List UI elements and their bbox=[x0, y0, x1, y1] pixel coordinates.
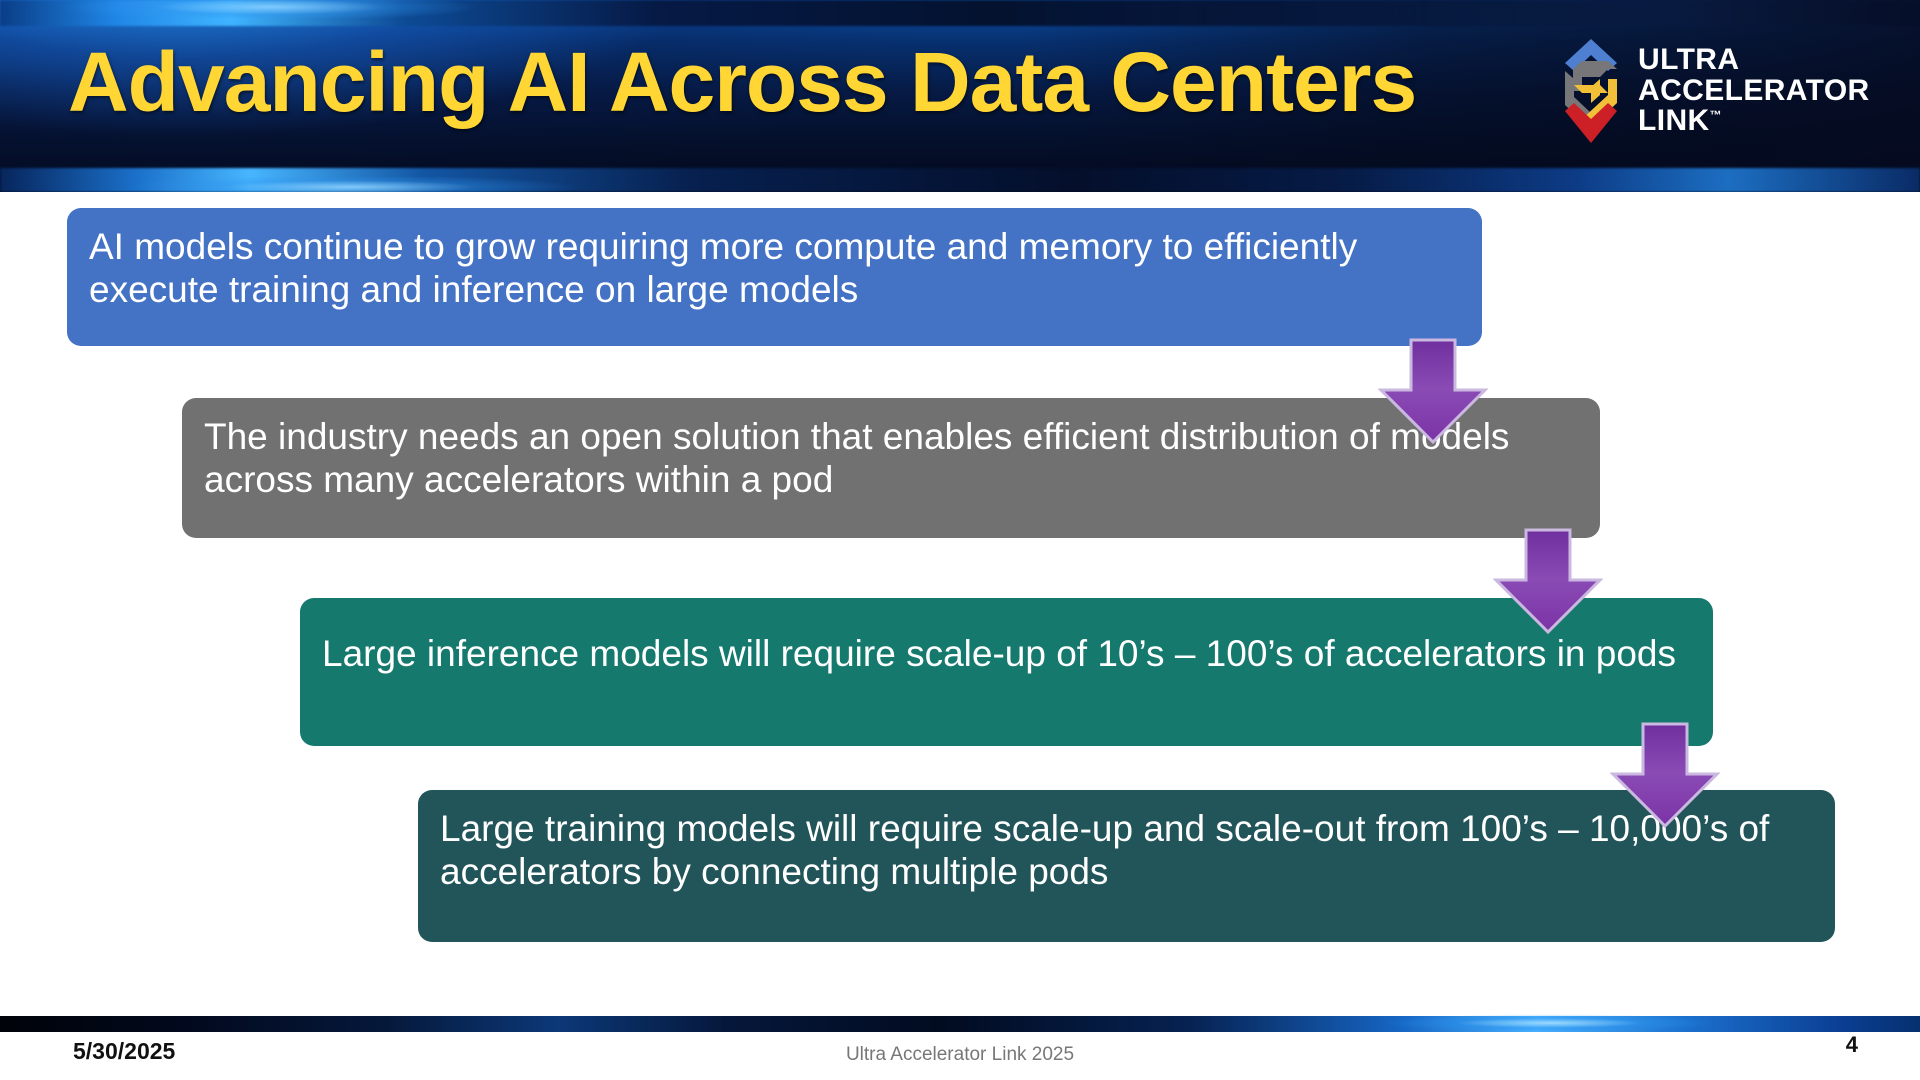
ultra-accelerator-link-logo: ULTRA ACCELERATOR LINK™ bbox=[1560, 32, 1890, 150]
logo-line-link: LINK bbox=[1638, 104, 1710, 137]
logo-line-link-row: LINK™ bbox=[1638, 106, 1870, 137]
logo-line-accelerator: ACCELERATOR bbox=[1638, 76, 1870, 107]
footer-page-number: 4 bbox=[1846, 1032, 1858, 1058]
page-title: Advancing AI Across Data Centers bbox=[68, 38, 1416, 126]
down-arrow-icon-3 bbox=[1610, 722, 1720, 830]
header-top-glow bbox=[60, 0, 480, 18]
down-arrow-icon-2 bbox=[1493, 528, 1603, 636]
footer-bar-glow bbox=[1380, 1014, 1720, 1032]
ual-chevron-mark-icon bbox=[1560, 35, 1622, 147]
logo-line-ultra: ULTRA bbox=[1638, 45, 1870, 76]
header-bottom-glow bbox=[120, 177, 580, 192]
trademark-icon: ™ bbox=[1710, 108, 1722, 122]
logo-wordmark: ULTRA ACCELERATOR LINK™ bbox=[1638, 45, 1870, 137]
footer-center-text: Ultra Accelerator Link 2025 bbox=[0, 1044, 1920, 1066]
flow-box-1: AI models continue to grow requiring mor… bbox=[67, 208, 1482, 346]
down-arrow-icon-1 bbox=[1378, 338, 1488, 446]
